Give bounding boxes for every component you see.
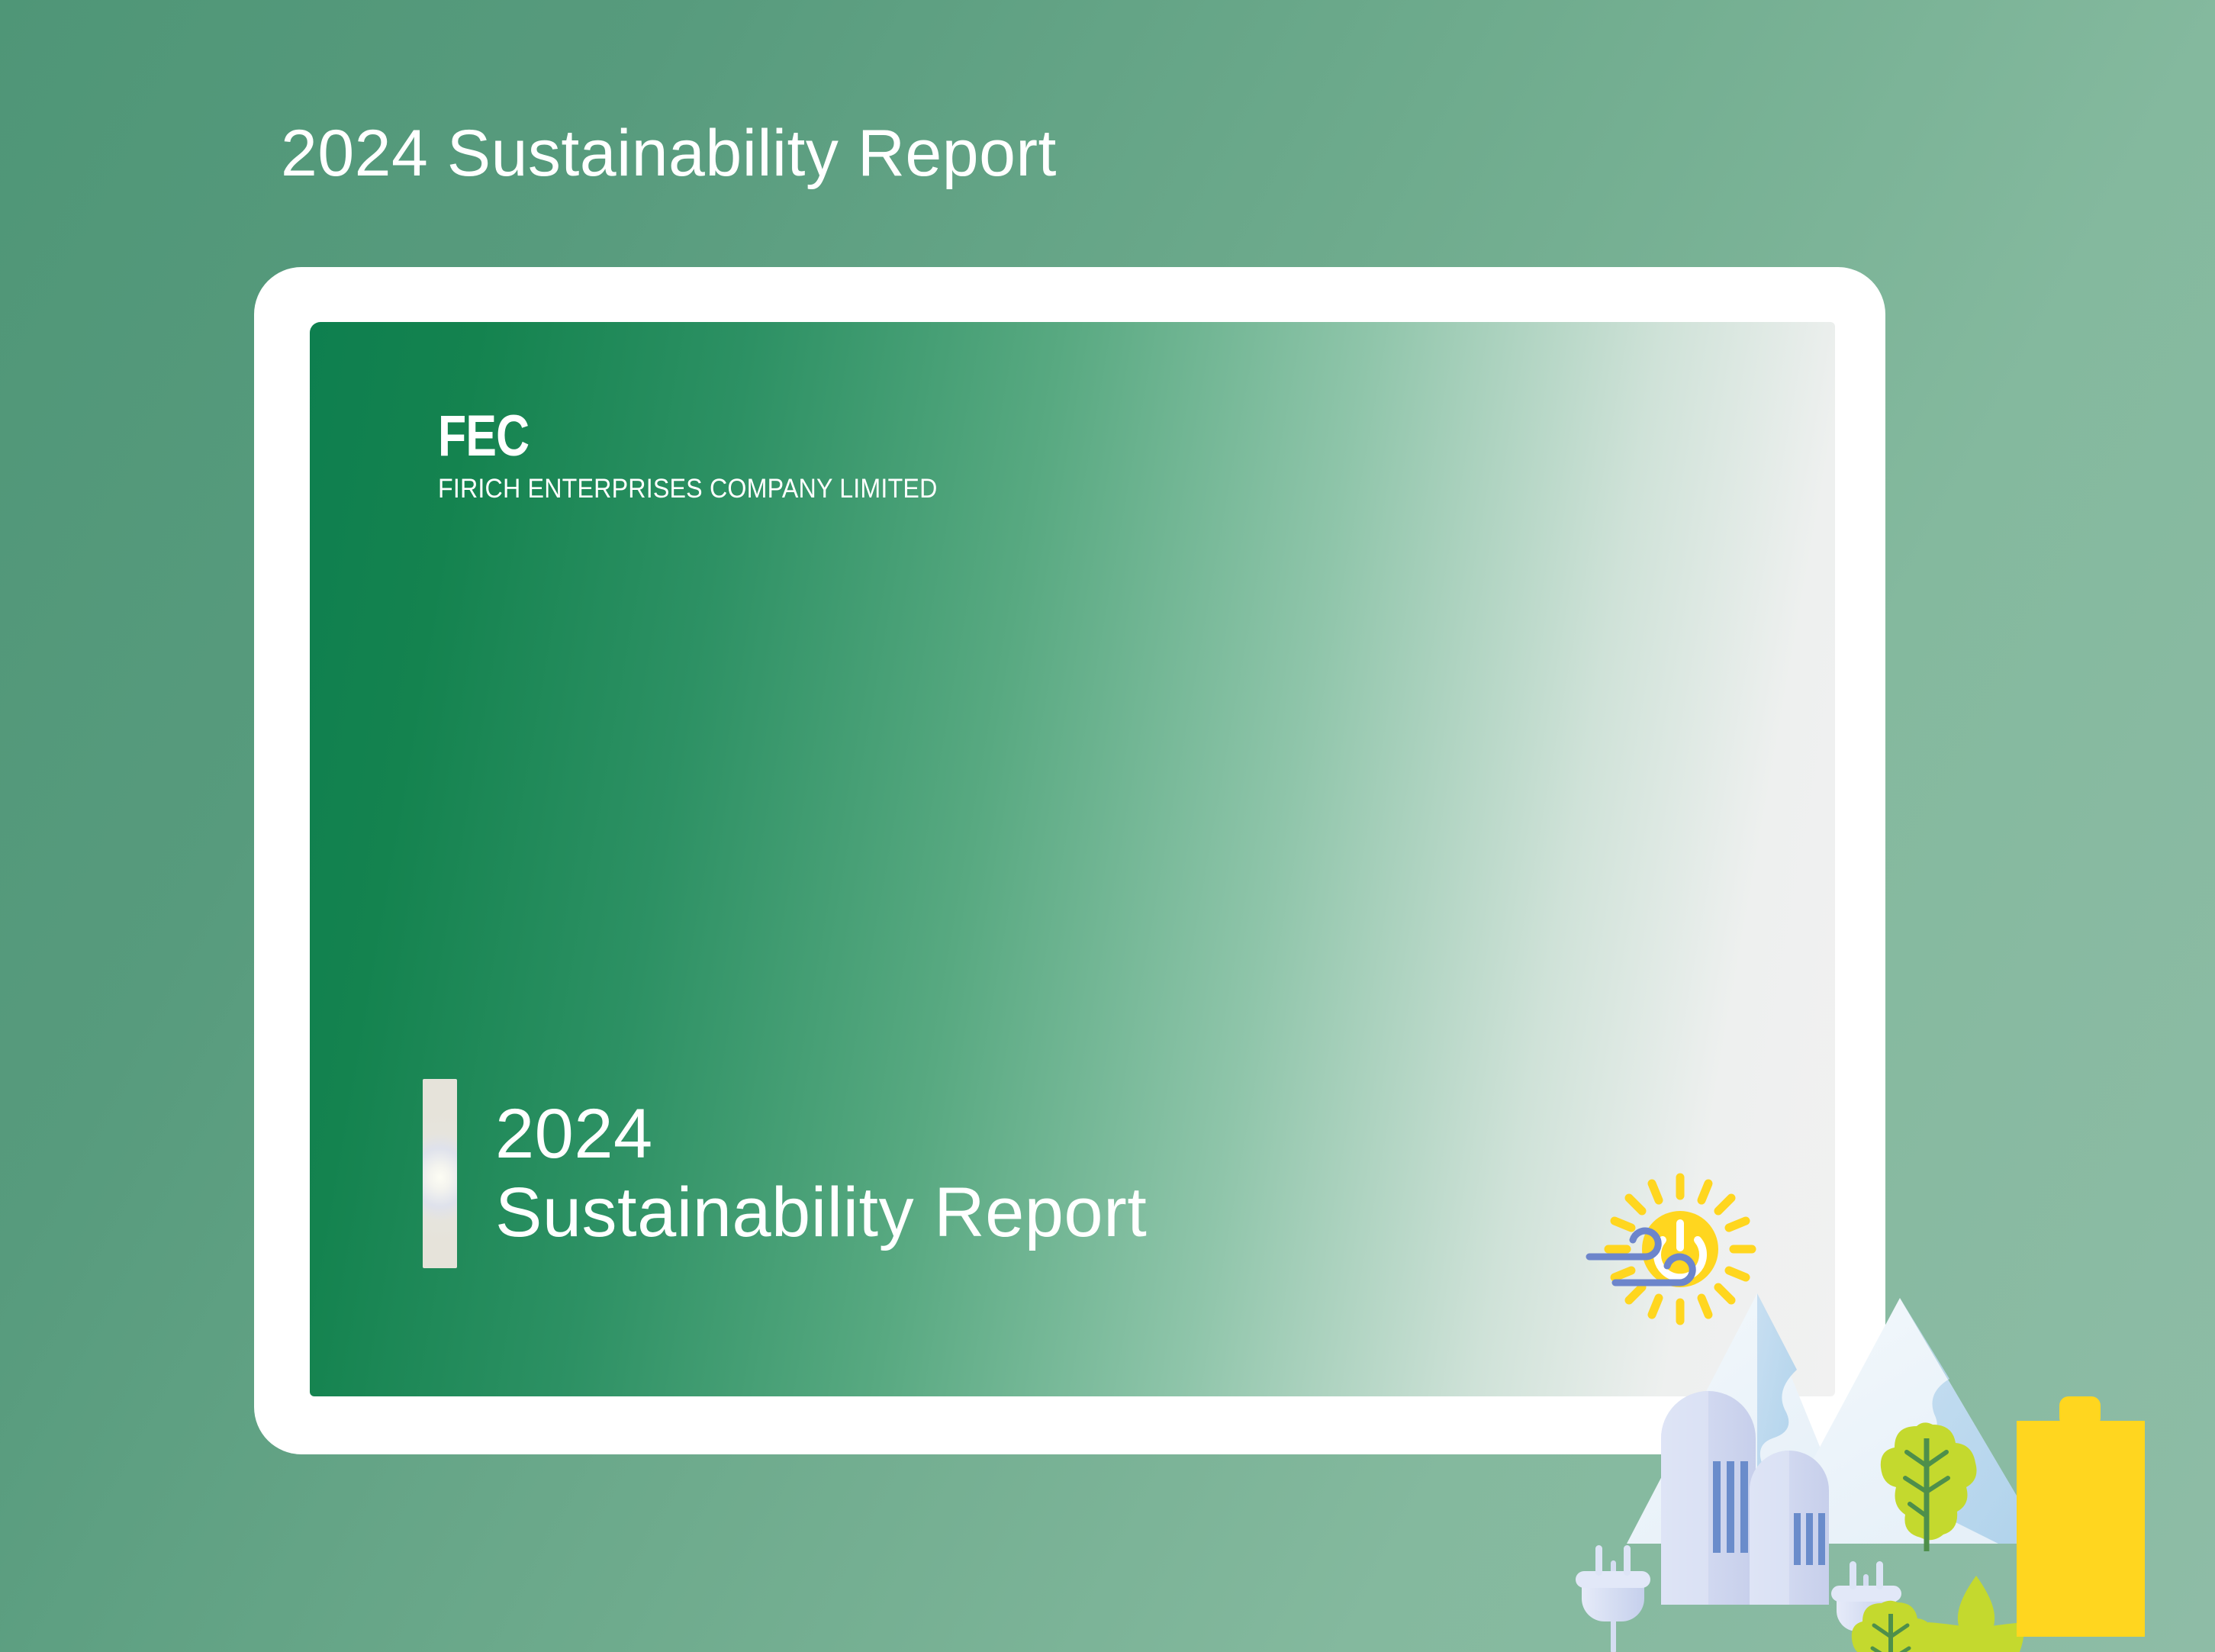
battery-icon	[2017, 1396, 2145, 1637]
report-cover-page: 2024 Sustainability Report FEC FIRICH EN…	[0, 0, 2215, 1652]
logo-mark-fec: FEC	[438, 410, 872, 463]
plug-icon-right	[1831, 1561, 1901, 1652]
logo-company-name: FIRICH ENTERPRISES COMPANY LIMITED	[438, 474, 938, 504]
cover-title-block: 2024 Sustainability Report	[423, 1079, 1147, 1268]
cover-title-year: 2024	[495, 1095, 1147, 1174]
title-accent-bar	[423, 1079, 457, 1268]
tree-foreground	[1852, 1601, 1936, 1652]
page-title: 2024 Sustainability Report	[281, 121, 1057, 186]
plug-icon-left	[1576, 1545, 1650, 1652]
cover-title-text: 2024 Sustainability Report	[495, 1079, 1147, 1268]
building-short	[1750, 1451, 1829, 1605]
tree-on-mountain	[1881, 1422, 1977, 1551]
cover-card-panel: FEC FIRICH ENTERPRISES COMPANY LIMITED 2…	[310, 322, 1835, 1396]
cover-card-frame: FEC FIRICH ENTERPRISES COMPANY LIMITED 2…	[254, 267, 1885, 1454]
company-logo: FEC FIRICH ENTERPRISES COMPANY LIMITED	[438, 410, 980, 504]
plant-sprout-icon	[1928, 1576, 2025, 1652]
cover-title-subject: Sustainability Report	[495, 1174, 1147, 1252]
